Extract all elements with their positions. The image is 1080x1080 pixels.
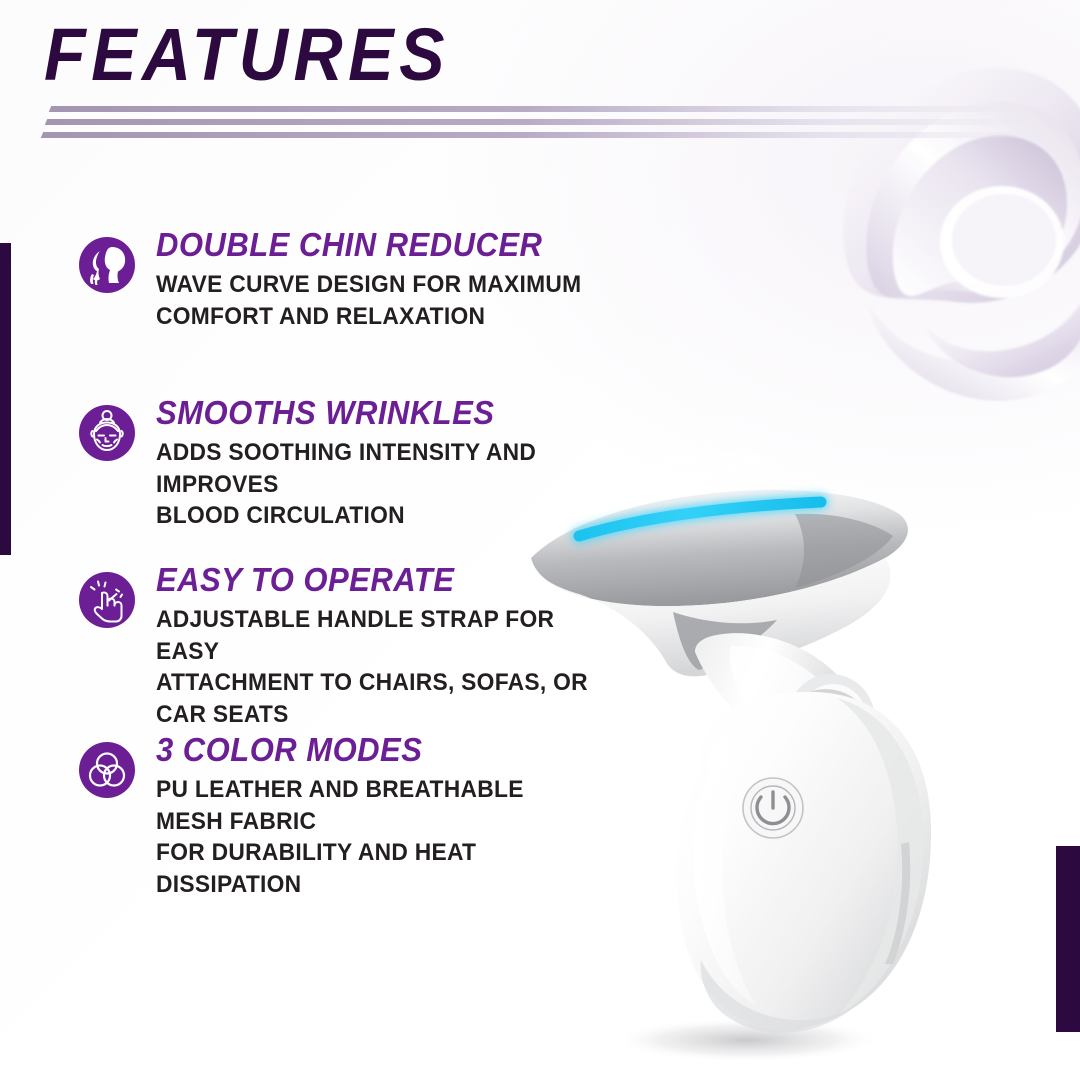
page-title: FEATURES	[44, 18, 688, 92]
feature-item-easy-to-operate: EASY TO OPERATE ADJUSTABLE HANDLE STRAP …	[78, 563, 618, 731]
title-underline-rules	[44, 106, 1064, 152]
feature-item-double-chin-reducer: DOUBLE CHIN REDUCER WAVE CURVE DESIGN FO…	[78, 228, 618, 332]
features-poster: FEATURES	[0, 0, 1080, 1080]
abstract-swirl-decoration	[806, 10, 1080, 420]
wrinkled-face-icon	[78, 404, 136, 462]
feature-item-smooths-wrinkles: SMOOTHS WRINKLES ADDS SOOTHING INTENSITY…	[78, 396, 618, 532]
feature-body: ADJUSTABLE HANDLE STRAP FOR EASY ATTACHM…	[156, 604, 595, 731]
feature-body: WAVE CURVE DESIGN FOR MAXIMUM COMFORT AN…	[156, 269, 595, 332]
power-button	[743, 778, 803, 838]
feature-text: 3 COLOR MODES PU LEATHER AND BREATHABLE …	[156, 733, 618, 901]
feature-text: EASY TO OPERATE ADJUSTABLE HANDLE STRAP …	[156, 563, 618, 731]
title-rule-3	[41, 132, 1041, 138]
feature-heading: DOUBLE CHIN REDUCER	[156, 228, 590, 263]
title-block: FEATURES	[44, 18, 744, 92]
right-accent-bar	[1056, 846, 1080, 1032]
tapping-hand-icon	[78, 571, 136, 629]
title-rule-1	[49, 106, 1031, 112]
feature-body: ADDS SOOTHING INTENSITY AND IMPROVES BLO…	[156, 437, 595, 532]
feature-item-3-color-modes: 3 COLOR MODES PU LEATHER AND BREATHABLE …	[78, 733, 618, 901]
left-accent-bar	[0, 243, 11, 555]
three-circles-icon	[78, 741, 136, 799]
feature-heading: 3 COLOR MODES	[156, 733, 590, 768]
feature-heading: SMOOTHS WRINKLES	[156, 396, 590, 431]
feature-body: PU LEATHER AND BREATHABLE MESH FABRIC FO…	[156, 774, 595, 901]
face-profile-icon	[78, 236, 136, 294]
feature-heading: EASY TO OPERATE	[156, 563, 590, 598]
feature-text: SMOOTHS WRINKLES ADDS SOOTHING INTENSITY…	[156, 396, 618, 532]
feature-text: DOUBLE CHIN REDUCER WAVE CURVE DESIGN FO…	[156, 228, 618, 332]
title-rule-2	[45, 119, 1037, 125]
